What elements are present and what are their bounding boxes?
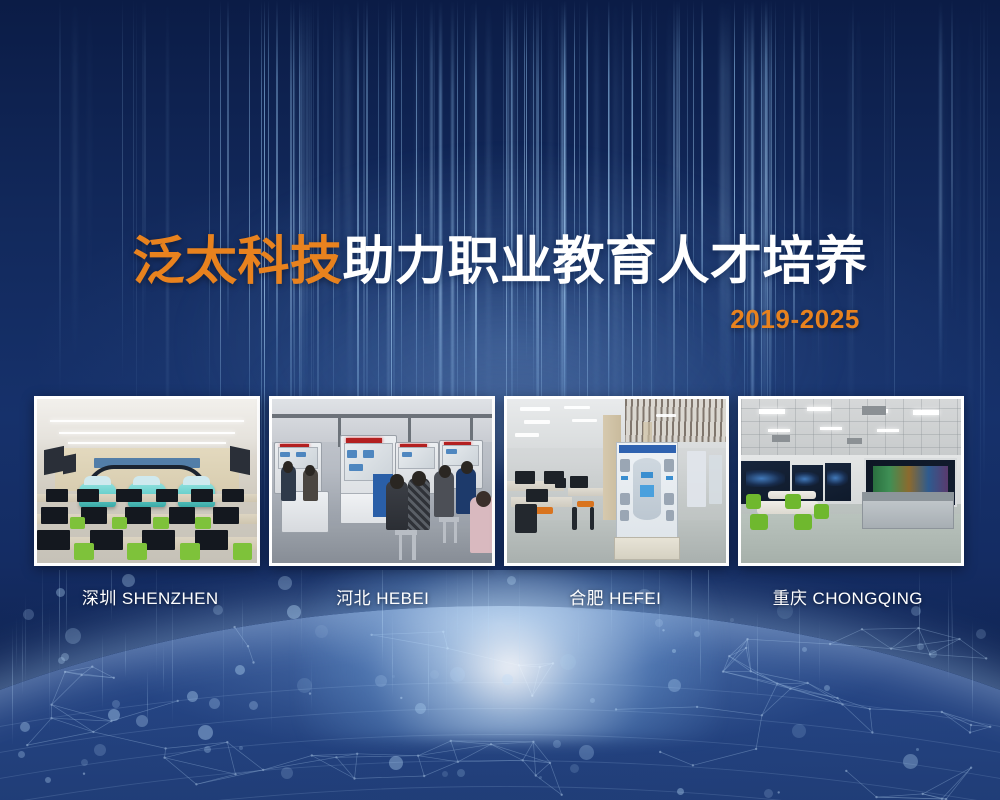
promo-banner: 泛太科技助力职业教育人才培养 2019-2025 bbox=[0, 0, 1000, 800]
photo-shenzhen bbox=[37, 399, 257, 563]
caption-chongqing: 重庆 CHONGQING bbox=[732, 584, 965, 612]
gallery-card-hefei[interactable] bbox=[504, 396, 730, 566]
page-title: 泛太科技助力职业教育人才培养 bbox=[0, 232, 1000, 292]
photo-hebei bbox=[272, 399, 492, 563]
photo-hefei bbox=[507, 399, 727, 563]
caption-shenzhen: 深圳 SHENZHEN bbox=[34, 584, 267, 612]
photo-gallery bbox=[34, 396, 964, 566]
gallery-card-hebei[interactable] bbox=[269, 396, 495, 566]
gallery-captions: 深圳 SHENZHEN 河北 HEBEI 合肥 HEFEI 重庆 CHONGQI… bbox=[34, 584, 964, 612]
globe-sphere bbox=[0, 606, 1000, 800]
caption-hebei: 河北 HEBEI bbox=[267, 584, 500, 612]
photo-chongqing bbox=[741, 399, 961, 563]
brand-name: 泛太科技 bbox=[132, 233, 342, 291]
caption-hefei: 合肥 HEFEI bbox=[499, 584, 732, 612]
gallery-card-shenzhen[interactable] bbox=[34, 396, 260, 566]
year-range: 2019-2025 bbox=[0, 304, 1000, 335]
gallery-card-chongqing[interactable] bbox=[738, 396, 964, 566]
title-tagline: 助力职业教育人才培养 bbox=[343, 233, 868, 291]
title-block: 泛太科技助力职业教育人才培养 2019-2025 bbox=[0, 232, 1000, 335]
